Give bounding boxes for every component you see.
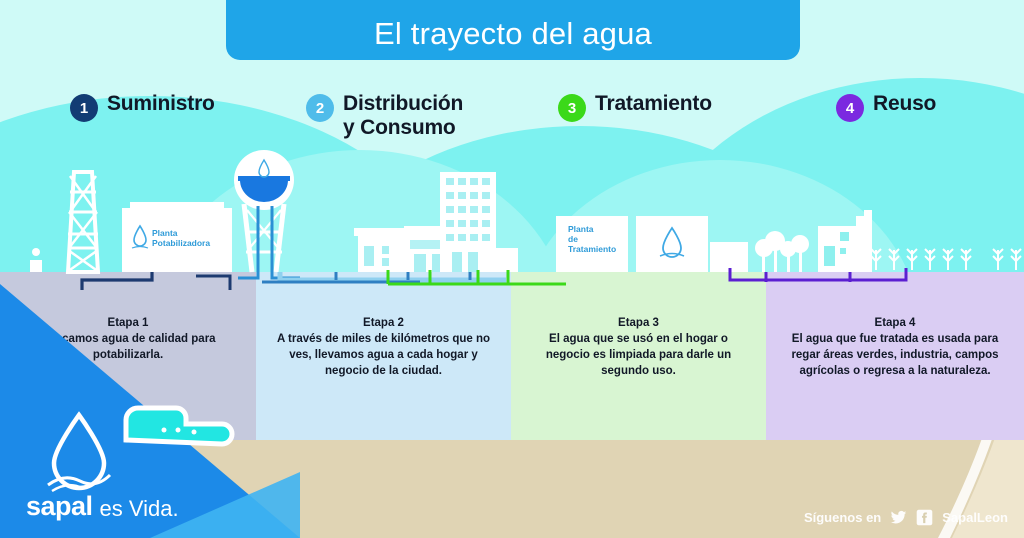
panel-4-body: El agua que fue tratada es usada para re… [791,333,998,377]
treatment-side-building [710,242,748,272]
treatment-plant-logo-block [636,216,708,272]
facebook-f-icon[interactable] [916,509,933,526]
step-badge-4: 4 [836,94,864,122]
panel-etapa-4: Etapa 4 El agua que fue tratada es usada… [766,272,1024,440]
page-title: El trayecto del agua [374,16,652,52]
tree-cluster-icon [755,231,809,272]
distribution-main-pipe [280,272,506,280]
panel-4-heading: Etapa 4 [782,316,1008,332]
step-badge-2: 2 [306,94,334,122]
panel-2-heading: Etapa 2 [272,316,495,332]
brand-name: sapal [26,493,93,520]
social-prefix: Síguenos en [804,510,881,525]
panel-3-text: Etapa 3 El agua que se usó en el hogar o… [511,316,766,379]
panel-etapa-3: Etapa 3 El agua que se usó en el hogar o… [511,272,766,440]
infographic-canvas: Etapa 1 Buscamos agua de calidad para po… [0,0,1024,538]
title-banner: El trayecto del agua [226,0,800,60]
potable-plant-label: Planta Potabilizadora [152,228,210,248]
panel-3-heading: Etapa 3 [527,316,750,332]
crop-field-icon [871,249,1021,270]
step-badge-3: 3 [558,94,586,122]
panel-3-body: El agua que se usó en el hogar o negocio… [546,333,731,377]
sapal-drop-logo-icon [42,409,116,493]
twitter-bird-icon[interactable] [890,509,907,526]
step-header-2[interactable]: 2 Distribución y Consumo [306,92,463,139]
step-header-3[interactable]: 3 Tratamiento [558,92,712,122]
city-buildings [354,172,518,272]
step-label-3: Tratamiento [595,92,712,116]
step-header-1[interactable]: 1 Suministro [70,92,215,122]
panel-2-body: A través de miles de kilómetros que no v… [277,333,490,377]
brand-tagline: es Vida. [100,498,179,520]
brand-lockup: sapal es Vida. [26,409,256,520]
brand-text-row: sapal es Vida. [26,493,256,520]
panel-4-text: Etapa 4 El agua que fue tratada es usada… [766,316,1024,379]
step-badge-1: 1 [70,94,98,122]
social-handle[interactable]: SapalLeon [942,510,1008,525]
step-label-4: Reuso [873,92,936,116]
step-header-4[interactable]: 4 Reuso [836,92,936,122]
social-bar: Síguenos en SapalLeon [804,509,1008,526]
step-label-2: Distribución y Consumo [343,92,463,139]
treatment-plant-label: Planta de Tratamiento [568,224,616,254]
step-label-1: Suministro [107,92,215,116]
